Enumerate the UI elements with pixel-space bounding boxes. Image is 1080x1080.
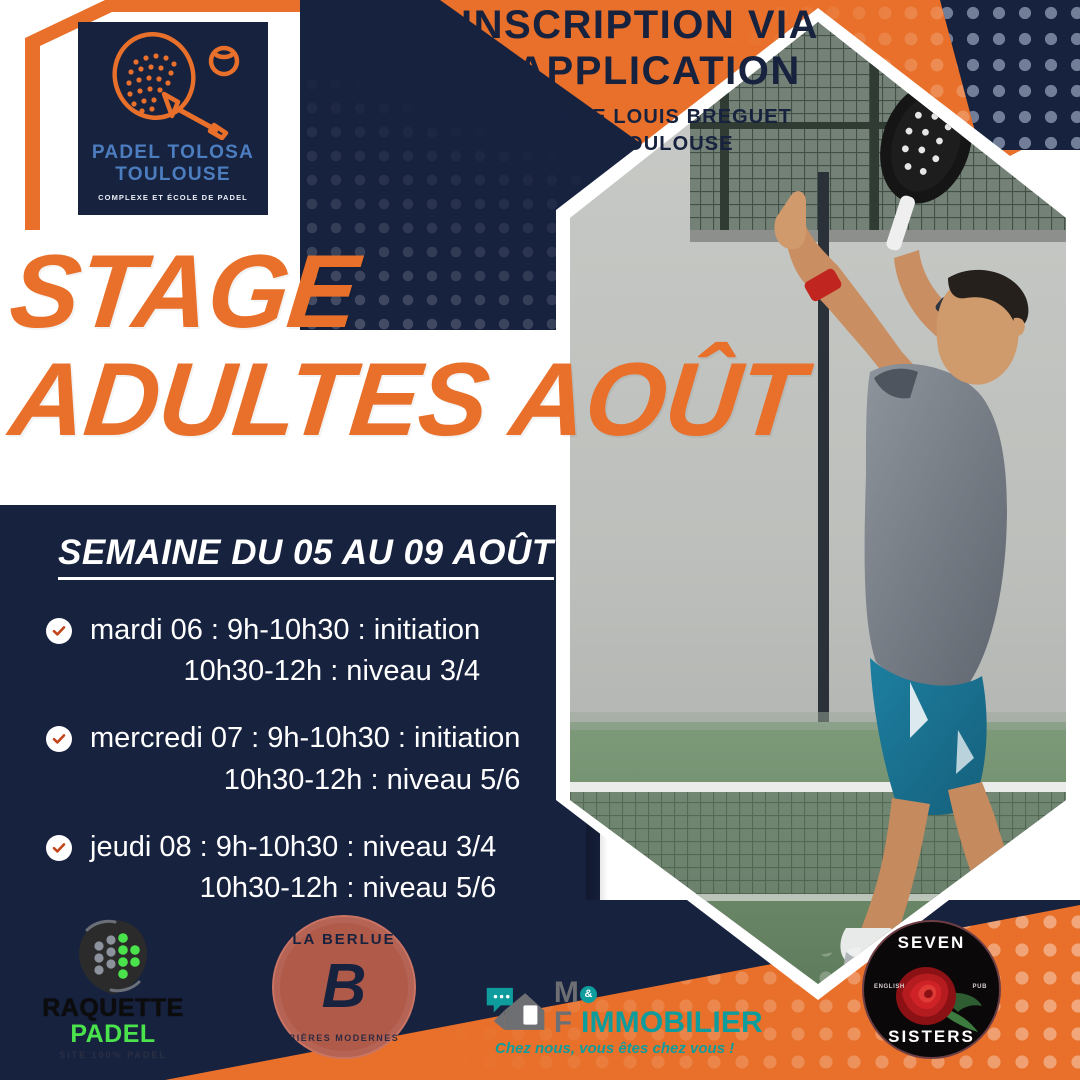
- poster-root: INSCRIPTION VIA L'APPLICATION 55 AVENUE …: [0, 0, 1080, 1080]
- mf-brand-rest: IMMOBILIER: [581, 1006, 763, 1039]
- schedule-item-line1: jeudi 08 : 9h-10h30 : niveau 3/4: [90, 827, 496, 868]
- sponsor-mf-immobilier: M&F IMMOBILIER Chez nous, vous êtes chez…: [485, 978, 775, 1057]
- list-item: mardi 06 : 9h-10h30 : initiation 10h30-1…: [0, 610, 600, 692]
- schedule-item-line1: mardi 06 : 9h-10h30 : initiation: [90, 610, 480, 651]
- schedule-item-line1: mercredi 07 : 9h-10h30 : initiation: [90, 718, 520, 759]
- house-speech-bubble-icon: [485, 981, 548, 1035]
- club-logo-card: PADEL TOLOSA TOULOUSE COMPLEXE ET ÉCOLE …: [78, 22, 268, 215]
- mf-brand-f: F: [554, 1006, 573, 1039]
- title-line-1: STAGE: [6, 245, 807, 341]
- sponsor-la-berlue: LA BERLUE B BIÈRES MODERNES: [272, 915, 416, 1059]
- club-logo-title-line1: PADEL TOLOSA: [92, 142, 254, 164]
- header-line1: INSCRIPTION VIA: [360, 4, 920, 46]
- schedule-list: mardi 06 : 9h-10h30 : initiation 10h30-1…: [0, 610, 600, 909]
- raquette-padel-tagline: SITE 100% PADEL: [28, 1050, 198, 1060]
- header-address-line2: 31400 TOULOUSE: [360, 131, 920, 158]
- raquette-padel-line2: PADEL: [28, 1021, 198, 1047]
- header-line2: L'APPLICATION: [360, 50, 920, 92]
- padel-racket-icon: [98, 32, 248, 140]
- club-logo-subtitle: COMPLEXE ET ÉCOLE DE PADEL: [98, 193, 248, 202]
- list-item: mercredi 07 : 9h-10h30 : initiation 10h3…: [0, 718, 600, 800]
- header-address-line1: 55 AVENUE LOUIS BREGUET: [360, 104, 920, 131]
- club-logo-title-line2: TOULOUSE: [115, 164, 231, 186]
- header-text-block: INSCRIPTION VIA L'APPLICATION 55 AVENUE …: [360, 4, 920, 158]
- seven-sisters-bottom-text: SISTERS: [864, 1027, 999, 1047]
- sponsor-raquette-padel: RAQUETTE PADEL SITE 100% PADEL: [28, 918, 198, 1060]
- padel-racket-icon: [73, 918, 153, 996]
- mf-tagline: Chez nous, vous êtes chez vous !: [495, 1040, 775, 1057]
- title-line-2: ADULTES AOÛT: [6, 353, 807, 449]
- la-berlue-top-text: LA BERLUE: [274, 931, 414, 948]
- check-icon: [46, 726, 72, 752]
- schedule-item-line2: 10h30-12h : niveau 3/4: [183, 651, 480, 692]
- seven-sisters-right-text: PUB: [973, 984, 987, 990]
- mf-brand-m: M: [554, 976, 579, 1009]
- raquette-padel-line1: RAQUETTE: [28, 996, 198, 1021]
- check-icon: [46, 835, 72, 861]
- mf-brand-amp: &: [580, 986, 597, 1003]
- seven-sisters-left-text: ENGLISH: [874, 984, 905, 990]
- la-berlue-monogram: B: [322, 956, 367, 1018]
- player-photo: [570, 22, 1066, 984]
- page-title: STAGE ADULTES AOÛT: [6, 245, 797, 448]
- check-icon: [46, 618, 72, 644]
- sponsor-logos: RAQUETTE PADEL SITE 100% PADEL LA BERLUE…: [0, 900, 1080, 1080]
- schedule-block: SEMAINE DU 05 AU 09 AOÛT mardi 06 : 9h-1…: [0, 505, 600, 955]
- list-item: jeudi 08 : 9h-10h30 : niveau 3/4 10h30-1…: [0, 827, 600, 909]
- schedule-item-line2: 10h30-12h : niveau 5/6: [224, 760, 521, 801]
- schedule-heading: SEMAINE DU 05 AU 09 AOÛT: [58, 533, 554, 580]
- sponsor-seven-sisters: SEVEN ENGLISH PUB SISTERS: [862, 920, 1001, 1059]
- la-berlue-bottom-text: BIÈRES MODERNES: [274, 1033, 414, 1043]
